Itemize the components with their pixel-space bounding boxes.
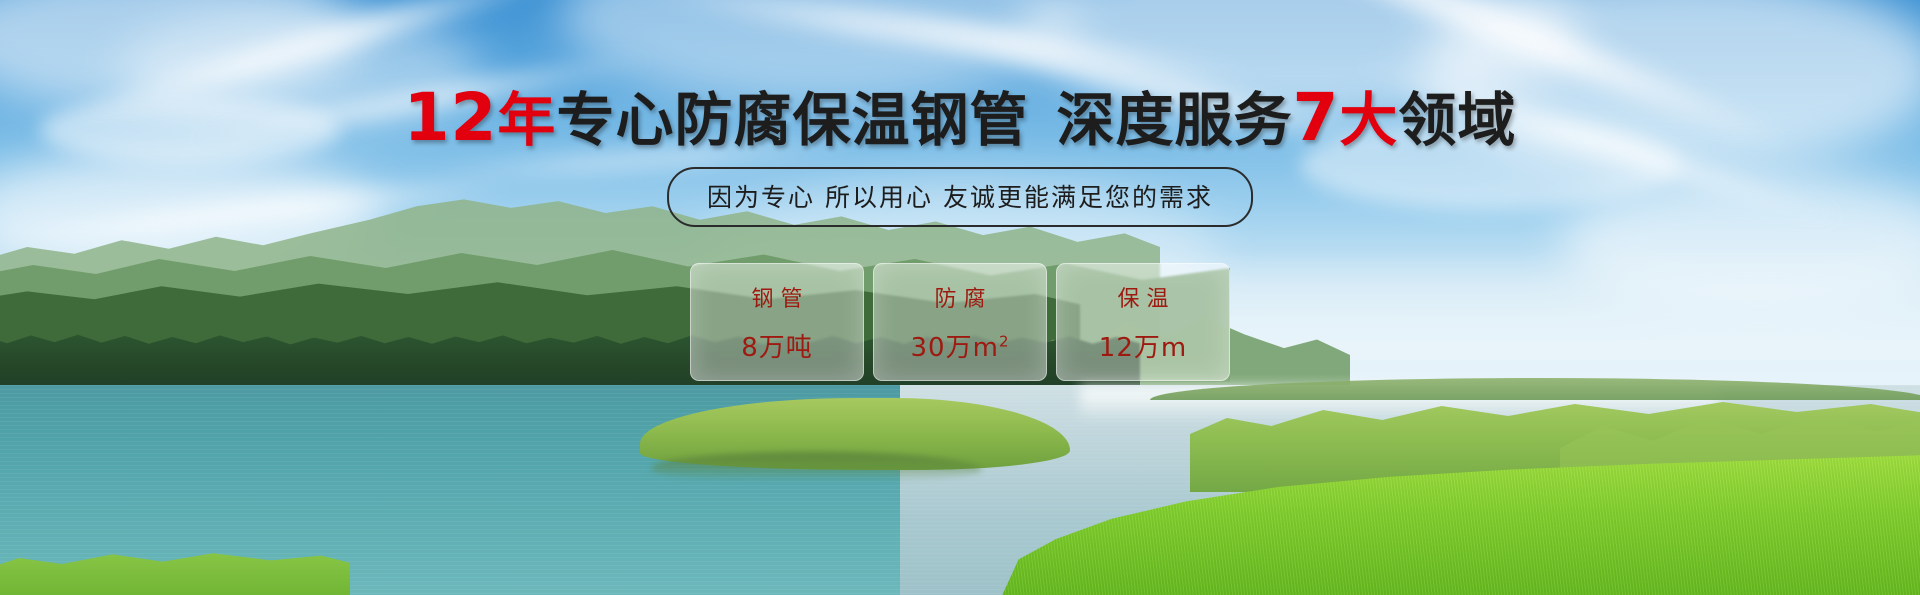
stat-card-label: 保温: [1117, 281, 1175, 313]
stat-card-label: 钢管: [751, 281, 809, 313]
headline-fields-tail: 领域: [1398, 86, 1516, 154]
stat-card-value: 8万吨: [741, 327, 813, 364]
headline-main-text: 专心防腐保温钢管: [556, 86, 1028, 154]
stat-card-insulation[interactable]: 保温 12万m: [1056, 263, 1230, 381]
island-fringe: [652, 452, 982, 482]
headline-fields-number: 7: [1292, 79, 1339, 156]
banner-headline: 12年专心防腐保温钢管深度服务7大领域: [0, 88, 1920, 150]
stat-card-value-text: 12万m: [1099, 333, 1187, 363]
stat-card-value-text: 8万吨: [741, 333, 813, 363]
headline-service-text: 深度服务: [1056, 86, 1292, 154]
stat-card-group: 钢管 8万吨 防腐 30万m2 保温 12万m: [690, 263, 1230, 381]
subtitle-pill: 因为专心 所以用心 友诚更能满足您的需求: [667, 167, 1253, 227]
subtitle-text: 因为专心 所以用心 友诚更能满足您的需求: [707, 183, 1213, 212]
headline-fields-unit: 大: [1339, 86, 1398, 154]
stat-card-value: 30万m2: [911, 327, 1010, 364]
headline-years-number: 12: [404, 79, 498, 156]
stat-card-steel-pipe[interactable]: 钢管 8万吨: [690, 263, 864, 381]
stat-card-value-superscript: 2: [999, 332, 1010, 350]
stat-card-label: 防腐: [934, 281, 992, 313]
promo-banner: 12年专心防腐保温钢管深度服务7大领域 因为专心 所以用心 友诚更能满足您的需求…: [0, 0, 1920, 595]
stat-card-anticorrosion[interactable]: 防腐 30万m2: [873, 263, 1047, 381]
stat-card-value-text: 30万m: [911, 333, 999, 363]
headline-years-unit: 年: [497, 86, 556, 154]
stat-card-value: 12万m: [1099, 327, 1187, 364]
